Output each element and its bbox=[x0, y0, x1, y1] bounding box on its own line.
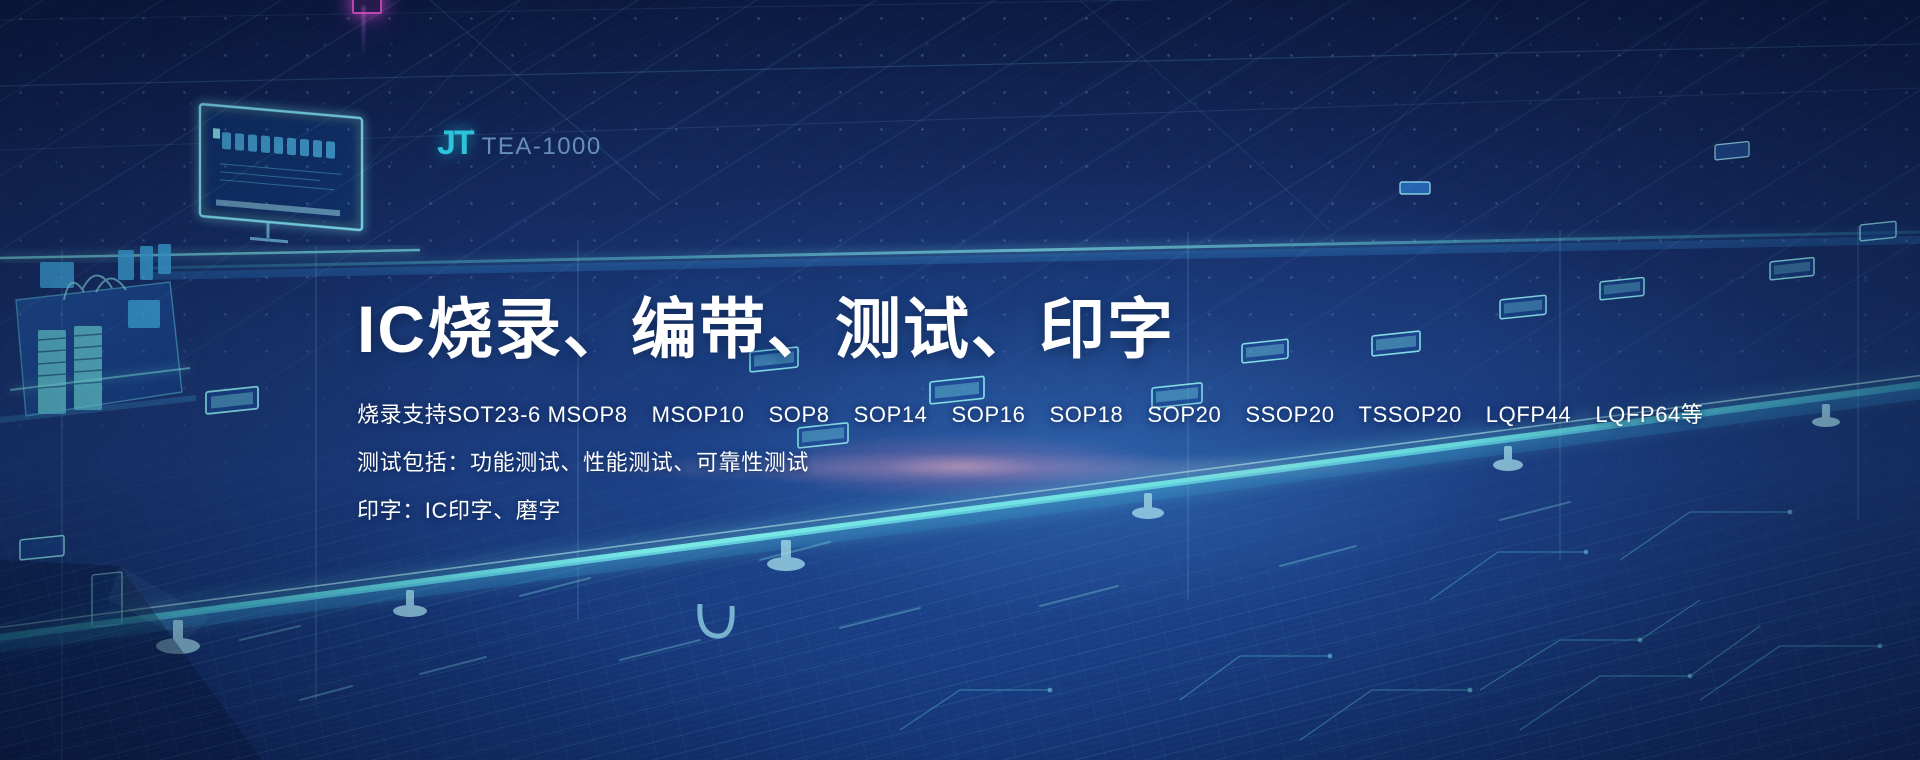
package-item: MSOP10 bbox=[652, 404, 745, 426]
package-item: SOP14 bbox=[854, 404, 928, 426]
machine-brand-logo: JT TEA-1000 bbox=[437, 126, 602, 160]
jt-logo-mark: JT bbox=[437, 126, 473, 160]
circuit-traces bbox=[900, 512, 1880, 740]
circuit-nodes bbox=[1048, 510, 1883, 693]
floor-shadow-wedge bbox=[0, 560, 262, 760]
overhead-gantry bbox=[0, 232, 1920, 276]
package-item: SOP8 bbox=[768, 404, 829, 426]
status-indicator-box bbox=[1400, 182, 1430, 194]
burn-support-prefix: 烧录支持SOT23-6 bbox=[357, 402, 541, 427]
banner-subtext-group: 烧录支持SOT23-6 MSOP8MSOP10SOP8SOP14SOP16SOP… bbox=[357, 404, 1657, 522]
package-item: TSSOP20 bbox=[1359, 404, 1462, 426]
package-item: SOP20 bbox=[1147, 404, 1221, 426]
package-list: MSOP8MSOP10SOP8SOP14SOP16SOP18SOP20SSOP2… bbox=[548, 402, 1704, 427]
banner-content: IC烧录、编带、测试、印字 烧录支持SOT23-6 MSOP8MSOP10SOP… bbox=[357, 296, 1657, 522]
package-item: LQFP64等 bbox=[1595, 404, 1703, 426]
package-item: LQFP44 bbox=[1486, 404, 1572, 426]
control-monitor-illustration bbox=[200, 104, 362, 248]
page-title: IC烧录、编带、测试、印字 bbox=[357, 296, 1657, 362]
machine-model-label: TEA-1000 bbox=[482, 135, 602, 159]
package-item: SOP16 bbox=[952, 404, 1026, 426]
marking-service-line: 印字：IC印字、磨字 bbox=[357, 500, 1657, 522]
left-machine-illustration bbox=[0, 244, 196, 420]
burn-support-line: 烧录支持SOT23-6 MSOP8MSOP10SOP8SOP14SOP16SOP… bbox=[357, 404, 1657, 426]
package-item: SOP18 bbox=[1049, 404, 1123, 426]
package-item: SSOP20 bbox=[1245, 404, 1334, 426]
top-magenta-chip-icon bbox=[352, 0, 382, 14]
test-scope-line: 测试包括：功能测试、性能测试、可靠性测试 bbox=[357, 452, 1657, 474]
package-item: MSOP8 bbox=[548, 404, 628, 426]
hero-banner: JT TEA-1000 IC烧录、编带、测试、印字 烧录支持SOT23-6 MS… bbox=[0, 0, 1920, 760]
